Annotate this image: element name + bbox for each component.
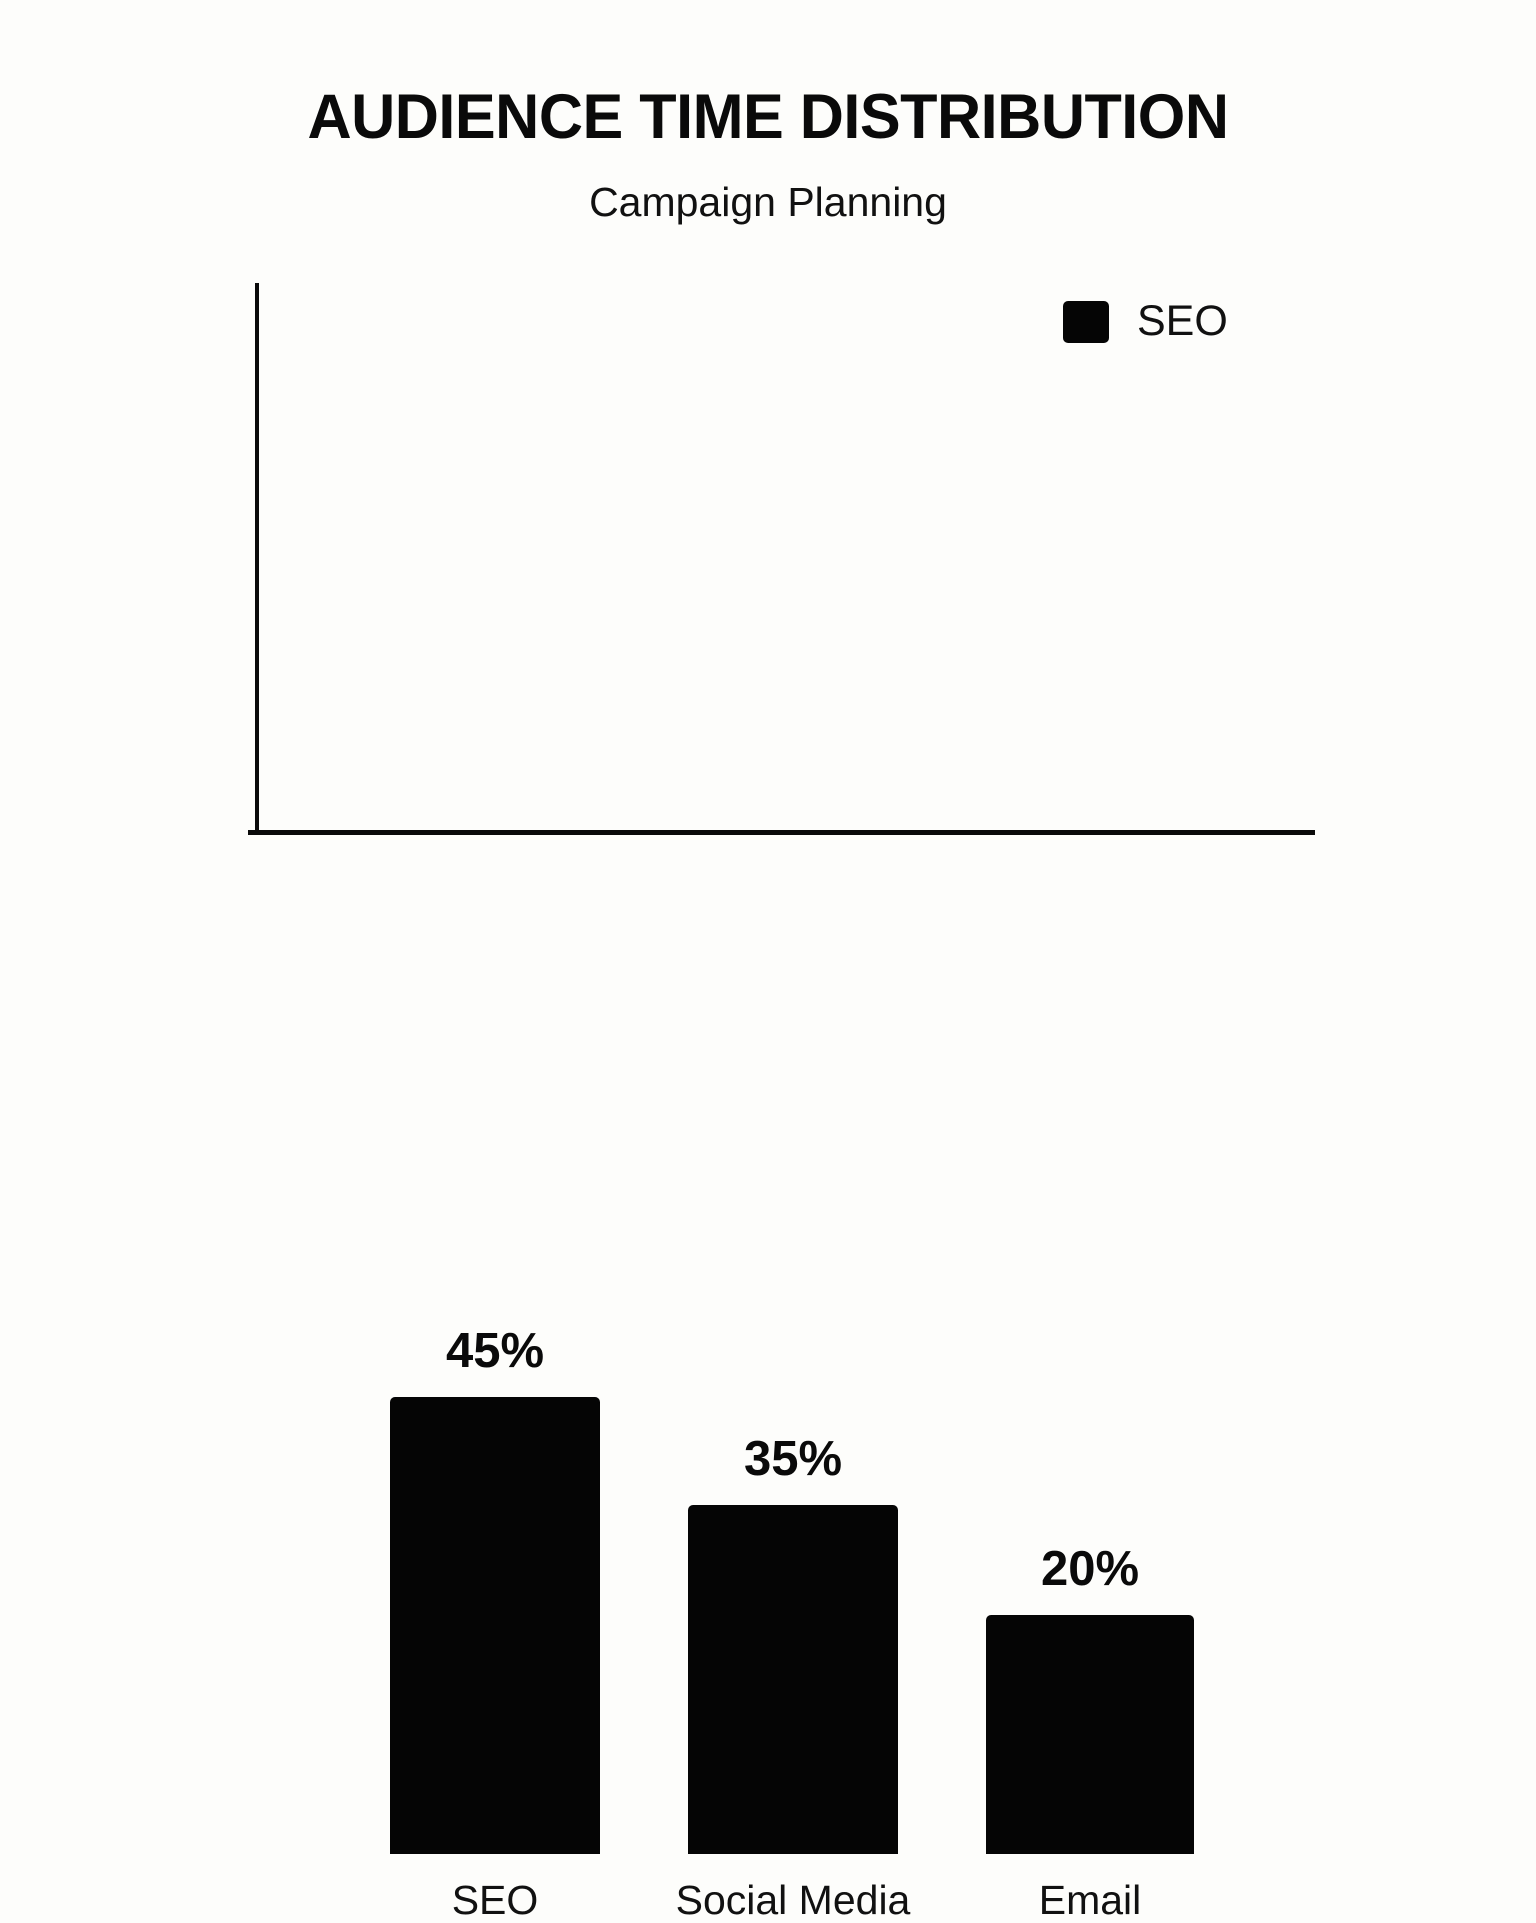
x-tick-label-seo: SEO — [390, 1880, 600, 1921]
legend-item-label: SEO — [1137, 300, 1228, 343]
bar-social-media[interactable] — [688, 1505, 898, 1854]
plot-area: 45% SEO 35% Social Media 20% Email — [0, 0, 1536, 1024]
chart-legend: SEO — [1063, 300, 1228, 343]
chart-figure: AUDIENCE TIME DISTRIBUTION Campaign Plan… — [0, 0, 1536, 1024]
bar-value-label-email: 20% — [986, 1545, 1194, 1594]
legend-item-seo[interactable]: SEO — [1063, 300, 1228, 343]
bar-value-label-social-media: 35% — [688, 1435, 898, 1484]
bar-value-label-seo: 45% — [390, 1327, 600, 1376]
x-tick-label-email: Email — [986, 1880, 1194, 1921]
bar-seo[interactable] — [390, 1397, 600, 1854]
bar-email[interactable] — [986, 1615, 1194, 1854]
legend-swatch-icon — [1063, 301, 1109, 343]
x-tick-label-social-media: Social Media — [673, 1880, 913, 1921]
